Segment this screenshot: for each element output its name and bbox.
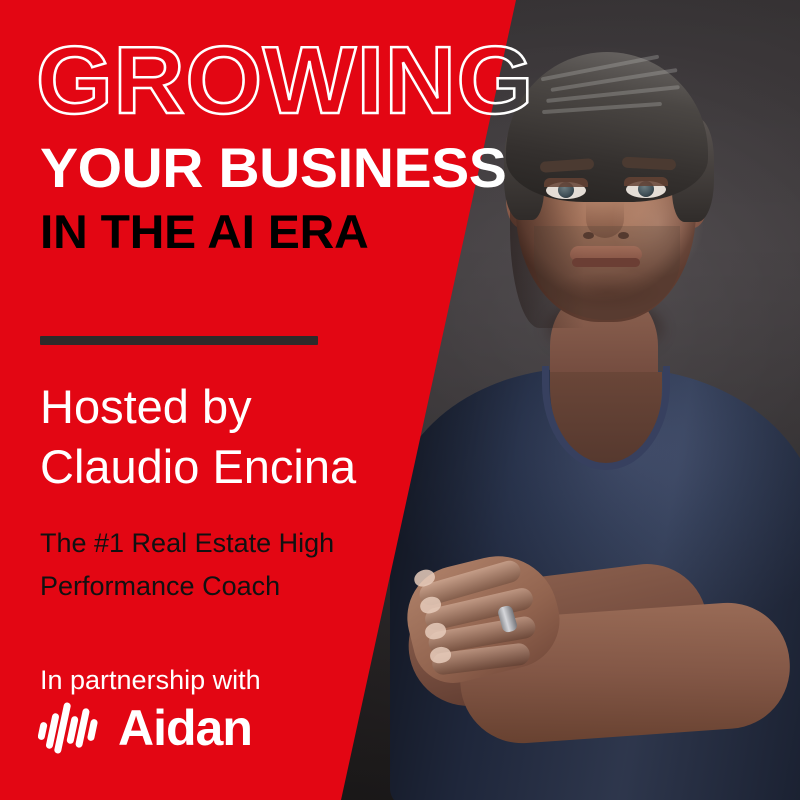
host-label: Hosted by: [40, 383, 252, 430]
audio-waveform-icon: [38, 702, 104, 754]
partner-brand-lockup: Aidan: [38, 702, 252, 754]
section-divider: [40, 336, 318, 345]
title-line-growing: GROWING: [36, 33, 534, 129]
partnership-label: In partnership with: [40, 665, 261, 696]
text-layer: GROWING YOUR BUSINESS IN THE AI ERA Host…: [0, 0, 800, 800]
host-name: Claudio Encina: [40, 443, 356, 490]
tagline-line-1: The #1 Real Estate High: [40, 530, 334, 557]
tagline-line-2: Performance Coach: [40, 573, 280, 600]
title-line-your-business: YOUR BUSINESS: [40, 140, 506, 196]
title-line-in-the-ai-era: IN THE AI ERA: [40, 208, 369, 255]
partner-brand-name: Aidan: [118, 703, 252, 753]
podcast-cover-artwork: GROWING YOUR BUSINESS IN THE AI ERA Host…: [0, 0, 800, 800]
